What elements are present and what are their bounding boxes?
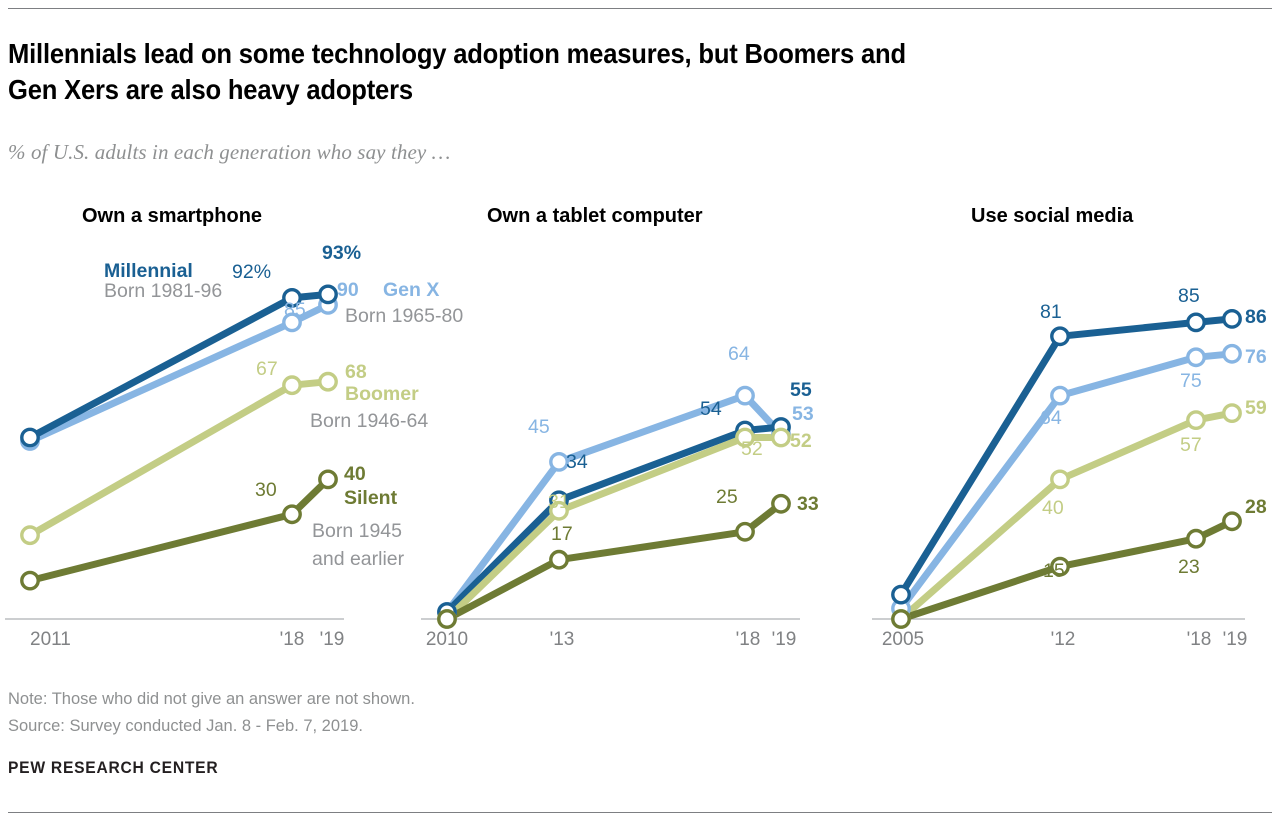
value-label-silent-18: 23 <box>1178 556 1200 578</box>
data-point-marker[interactable] <box>1188 349 1204 365</box>
legend-genx-born: Born 1965-80 <box>345 305 463 327</box>
legend-millennial-name: Millennial <box>104 260 193 282</box>
value-label-genx-18: 64 <box>728 343 750 365</box>
data-point-marker[interactable] <box>551 454 567 470</box>
x-axis-tick-label: '19 <box>1223 629 1248 650</box>
value-label-silent-19: 40 <box>344 463 366 485</box>
value-label-boomer-19: 68 <box>345 361 367 383</box>
data-point-marker[interactable] <box>22 572 38 588</box>
panel-title: Own a tablet computer <box>487 205 703 227</box>
value-label-millennial-18: 92% <box>232 261 271 283</box>
value-label-millennial-19: 55 <box>790 379 812 401</box>
data-point-marker[interactable] <box>1188 314 1204 330</box>
data-point-marker[interactable] <box>22 527 38 543</box>
data-point-marker[interactable] <box>737 524 753 540</box>
value-label-genx-13: 45 <box>528 416 550 438</box>
legend-boomer-born: Born 1946-64 <box>310 410 428 432</box>
value-label-boomer-18: 52 <box>741 438 763 460</box>
value-label-genx-19: 76 <box>1245 346 1267 368</box>
x-axis-tick-label: '13 <box>550 629 575 650</box>
value-label-boomer-12: 40 <box>1042 497 1064 519</box>
chart-page: Millennials lead on some technology adop… <box>0 0 1280 822</box>
x-axis-tick-label: '18 <box>1187 629 1212 650</box>
value-label-millennial-13: 34 <box>566 451 588 473</box>
x-axis-tick-label: '18 <box>280 629 305 650</box>
legend-boomer-name: Boomer <box>345 383 419 405</box>
data-point-marker[interactable] <box>737 387 753 403</box>
legend-silent-born-1: Born 1945 <box>312 520 402 542</box>
data-point-marker[interactable] <box>773 496 789 512</box>
x-axis-tick-label: '12 <box>1051 629 1076 650</box>
pew-research-center-credit: PEW RESEARCH CENTER <box>8 758 218 778</box>
x-axis-tick-label: '18 <box>736 629 761 650</box>
note-line: Note: Those who did not give an answer a… <box>8 686 415 713</box>
legend-silent-name: Silent <box>344 487 398 509</box>
x-axis-tick-label: '19 <box>772 629 797 650</box>
value-label-genx-12: 64 <box>1040 407 1062 429</box>
x-axis-tick-label: 2010 <box>426 629 468 650</box>
value-label-millennial-19: 86 <box>1245 306 1267 328</box>
series-line-silent <box>30 479 328 580</box>
x-axis-tick-label: 2011 <box>30 629 71 650</box>
legend-silent-born-2: and earlier <box>312 548 405 570</box>
chart-panel-2: Own a tablet computer2010'13'18'19 <box>421 205 800 650</box>
value-label-genx-18: 75 <box>1180 370 1202 392</box>
data-point-marker[interactable] <box>1052 387 1068 403</box>
data-point-marker[interactable] <box>284 506 300 522</box>
legend-millennial-born: Born 1981-96 <box>104 280 222 302</box>
source-line: Source: Survey conducted Jan. 8 - Feb. 7… <box>8 713 415 740</box>
data-point-marker[interactable] <box>1052 328 1068 344</box>
legend-genx-name: Gen X <box>383 279 439 301</box>
value-label-genx-19: 53 <box>792 403 814 425</box>
value-label-boomer-19: 59 <box>1245 397 1267 419</box>
value-label-millennial-18: 85 <box>1178 285 1200 307</box>
data-point-marker[interactable] <box>1052 471 1068 487</box>
value-label-silent-18: 25 <box>716 486 738 508</box>
series-line-millennial <box>447 427 781 612</box>
value-label-silent-18: 30 <box>255 479 277 501</box>
value-label-silent-19: 33 <box>797 493 819 515</box>
value-label-boomer-19: 52 <box>790 430 812 452</box>
data-point-marker[interactable] <box>320 471 336 487</box>
data-point-marker[interactable] <box>1224 346 1240 362</box>
value-label-silent-19: 28 <box>1245 496 1267 518</box>
value-label-silent-12: 15 <box>1043 560 1065 582</box>
data-point-marker[interactable] <box>551 552 567 568</box>
value-label-silent-13: 17 <box>551 523 573 545</box>
data-point-marker[interactable] <box>1224 513 1240 529</box>
value-label-boomer-13: 31 <box>548 491 570 513</box>
data-point-marker[interactable] <box>1224 311 1240 327</box>
value-label-millennial-19: 93% <box>322 242 361 264</box>
panel-title: Own a smartphone <box>82 205 262 227</box>
data-point-marker[interactable] <box>1188 531 1204 547</box>
data-point-marker[interactable] <box>320 374 336 390</box>
value-label-genx-19: 90 <box>337 279 359 301</box>
value-label-boomer-18: 67 <box>256 358 278 380</box>
data-point-marker[interactable] <box>893 611 909 627</box>
data-point-marker[interactable] <box>439 611 455 627</box>
value-label-boomer-18: 57 <box>1180 434 1202 456</box>
data-point-marker[interactable] <box>1224 405 1240 421</box>
data-point-marker[interactable] <box>22 429 38 445</box>
data-point-marker[interactable] <box>320 286 336 302</box>
data-point-marker[interactable] <box>773 429 789 445</box>
x-axis-tick-label: '19 <box>320 629 345 650</box>
value-label-genx-18: 85 <box>284 299 306 321</box>
x-axis-tick-label: 2005 <box>882 629 924 650</box>
data-point-marker[interactable] <box>284 377 300 393</box>
footnotes: Note: Those who did not give an answer a… <box>8 686 415 740</box>
data-point-marker[interactable] <box>1188 412 1204 428</box>
data-point-marker[interactable] <box>893 586 909 602</box>
value-label-millennial-12: 81 <box>1040 301 1062 323</box>
panel-title: Use social media <box>971 205 1134 227</box>
value-label-millennial-18: 54 <box>700 398 722 420</box>
